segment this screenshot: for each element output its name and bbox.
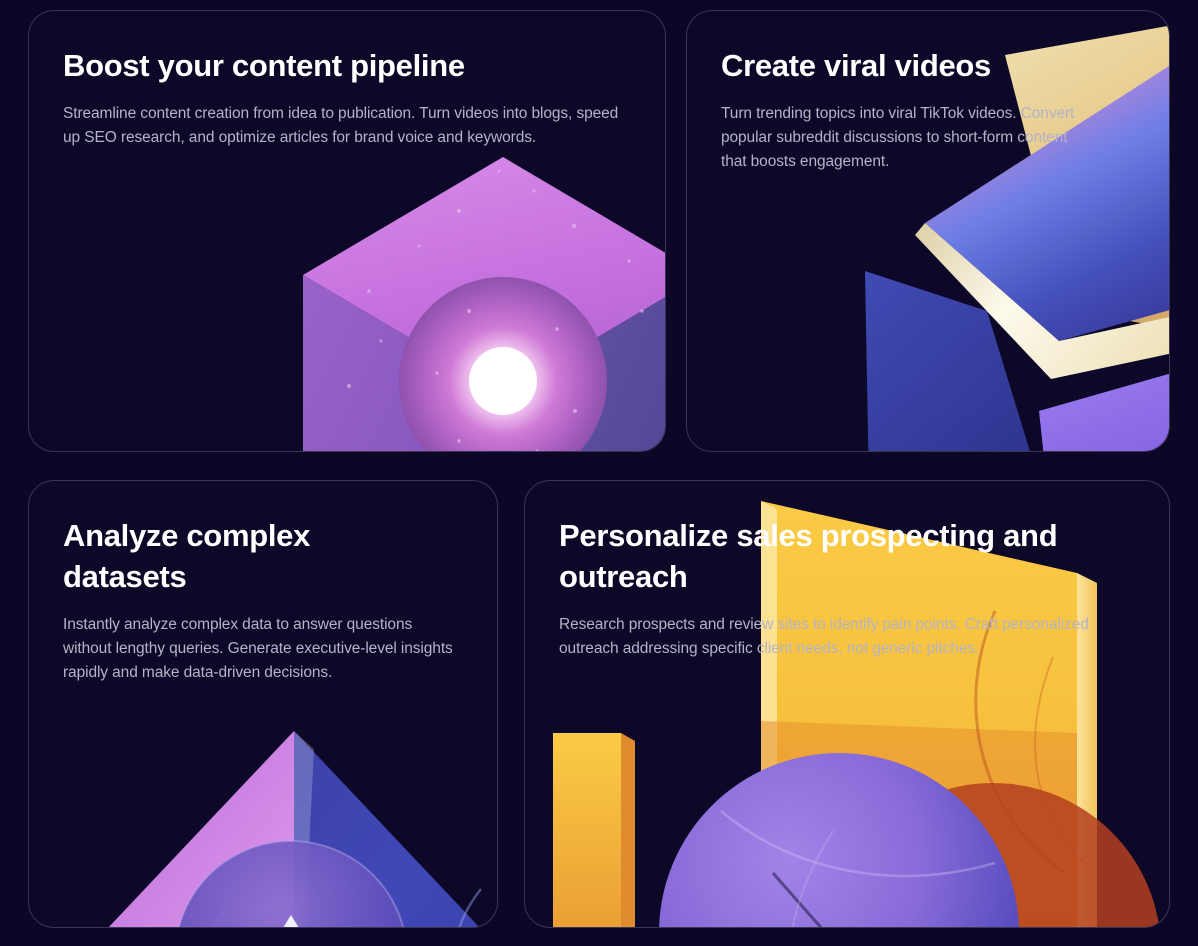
card-analyze-complex-datasets[interactable]: Analyze complex datasets Instantly analy… <box>28 480 498 928</box>
card-create-viral-videos[interactable]: Create viral videos Turn trending topics… <box>686 10 1170 452</box>
card-text-block: Create viral videos Turn trending topics… <box>687 11 1169 174</box>
card-title: Personalize sales prospecting and outrea… <box>559 515 1119 597</box>
card-title: Create viral videos <box>721 45 1135 86</box>
use-case-card-grid: Boost your content pipeline Streamline c… <box>0 0 1198 946</box>
card-description: Streamline content creation from idea to… <box>63 102 631 150</box>
card-description: Turn trending topics into viral TikTok v… <box>721 102 1081 174</box>
card-title: Boost your content pipeline <box>63 45 631 86</box>
card-description: Research prospects and review sites to i… <box>559 613 1135 661</box>
card-boost-content-pipeline[interactable]: Boost your content pipeline Streamline c… <box>28 10 666 452</box>
card-personalize-sales-prospecting[interactable]: Personalize sales prospecting and outrea… <box>524 480 1170 928</box>
card-text-block: Boost your content pipeline Streamline c… <box>29 11 665 150</box>
card-text-block: Analyze complex datasets Instantly analy… <box>29 481 497 685</box>
card-text-block: Personalize sales prospecting and outrea… <box>525 481 1169 661</box>
card-description: Instantly analyze complex data to answer… <box>63 613 463 685</box>
card-title: Analyze complex datasets <box>63 515 393 597</box>
